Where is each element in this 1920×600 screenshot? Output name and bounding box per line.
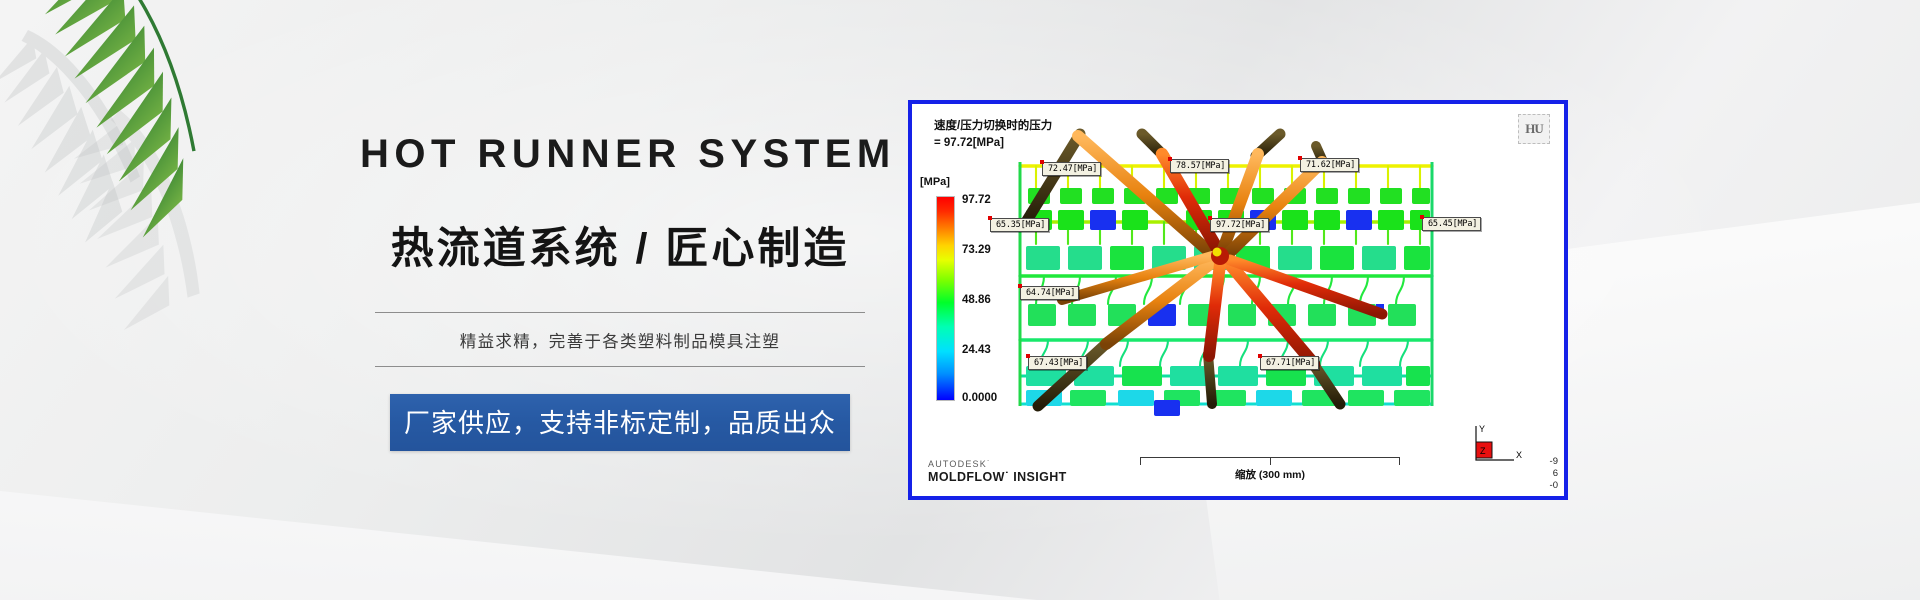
legend-unit-label: [MPa] xyxy=(920,176,950,188)
page-title-cn: 热流道系统 / 匠心制造 xyxy=(360,224,880,276)
watermark-logo-icon: HU xyxy=(1518,114,1550,144)
probe-label[interactable]: 65.35[MPa] xyxy=(990,218,1049,232)
moldflow-analysis-figure[interactable]: 速度/压力切换时的压力 = 97.72[MPa] HU [MPa] 97.72 … xyxy=(908,100,1568,500)
probe-label[interactable]: 97.72[MPa] xyxy=(1210,218,1269,232)
svg-text:Y: Y xyxy=(1479,424,1485,434)
legend-tick-1: 73.29 xyxy=(962,244,991,256)
scale-bar: 缩放 (300 mm) xyxy=(1140,457,1400,482)
probe-label[interactable]: 67.71[MPa] xyxy=(1260,356,1319,370)
hero-banner: HOT RUNNER SYSTEM 热流道系统 / 匠心制造 精益求精，完善于各… xyxy=(0,0,1920,600)
svg-text:X: X xyxy=(1516,450,1522,460)
palm-leaf-decoration xyxy=(0,0,400,390)
svg-text:Z: Z xyxy=(1480,446,1486,456)
scale-bar-line xyxy=(1140,457,1400,466)
brand-moldflow-label: MOLDFLOW˙ INSIGHT xyxy=(928,470,1067,484)
probe-label[interactable]: 67.43[MPa] xyxy=(1028,356,1087,370)
page-title-en: HOT RUNNER SYSTEM xyxy=(360,132,880,176)
probe-label[interactable]: 71.62[MPa] xyxy=(1300,158,1359,172)
scale-bar-label: 缩放 (300 mm) xyxy=(1140,467,1400,482)
page-subtitle: 精益求精，完善于各类塑料制品模具注塑 xyxy=(360,313,880,366)
autodesk-brand: AUTODESK˙ MOLDFLOW˙ INSIGHT xyxy=(928,459,1067,484)
probe-label[interactable]: 72.47[MPa] xyxy=(1042,162,1101,176)
axis-triad: Z Y X xyxy=(1468,420,1530,476)
legend-tick-2: 48.86 xyxy=(962,294,991,306)
hero-text-block: HOT RUNNER SYSTEM 热流道系统 / 匠心制造 精益求精，完善于各… xyxy=(360,132,880,451)
highlight-badge[interactable]: 厂家供应，支持非标定制，品质出众 xyxy=(390,394,850,451)
axis-num-y: 6 xyxy=(1550,468,1558,480)
axis-coordinate-values: -9 6 -0 xyxy=(1550,456,1558,492)
divider-bottom xyxy=(375,366,865,367)
figure-title: 速度/压力切换时的压力 = 97.72[MPa] xyxy=(934,118,1052,153)
legend-gradient-bar xyxy=(936,196,955,401)
axis-num-x: -9 xyxy=(1550,456,1558,468)
probe-label[interactable]: 78.57[MPa] xyxy=(1170,159,1229,173)
legend-tick-4: 0.0000 xyxy=(962,392,997,404)
probe-label[interactable]: 65.45[MPa] xyxy=(1422,217,1481,231)
brand-autodesk-label: AUTODESK˙ xyxy=(928,459,1067,469)
axis-num-z: -0 xyxy=(1550,480,1558,492)
subtitle-group: 精益求精，完善于各类塑料制品模具注塑 xyxy=(360,312,880,367)
legend-tick-0: 97.72 xyxy=(962,194,991,206)
figure-canvas: 速度/压力切换时的压力 = 97.72[MPa] HU [MPa] 97.72 … xyxy=(912,104,1564,496)
probe-label[interactable]: 64.74[MPa] xyxy=(1020,286,1079,300)
legend-tick-3: 24.43 xyxy=(962,344,991,356)
